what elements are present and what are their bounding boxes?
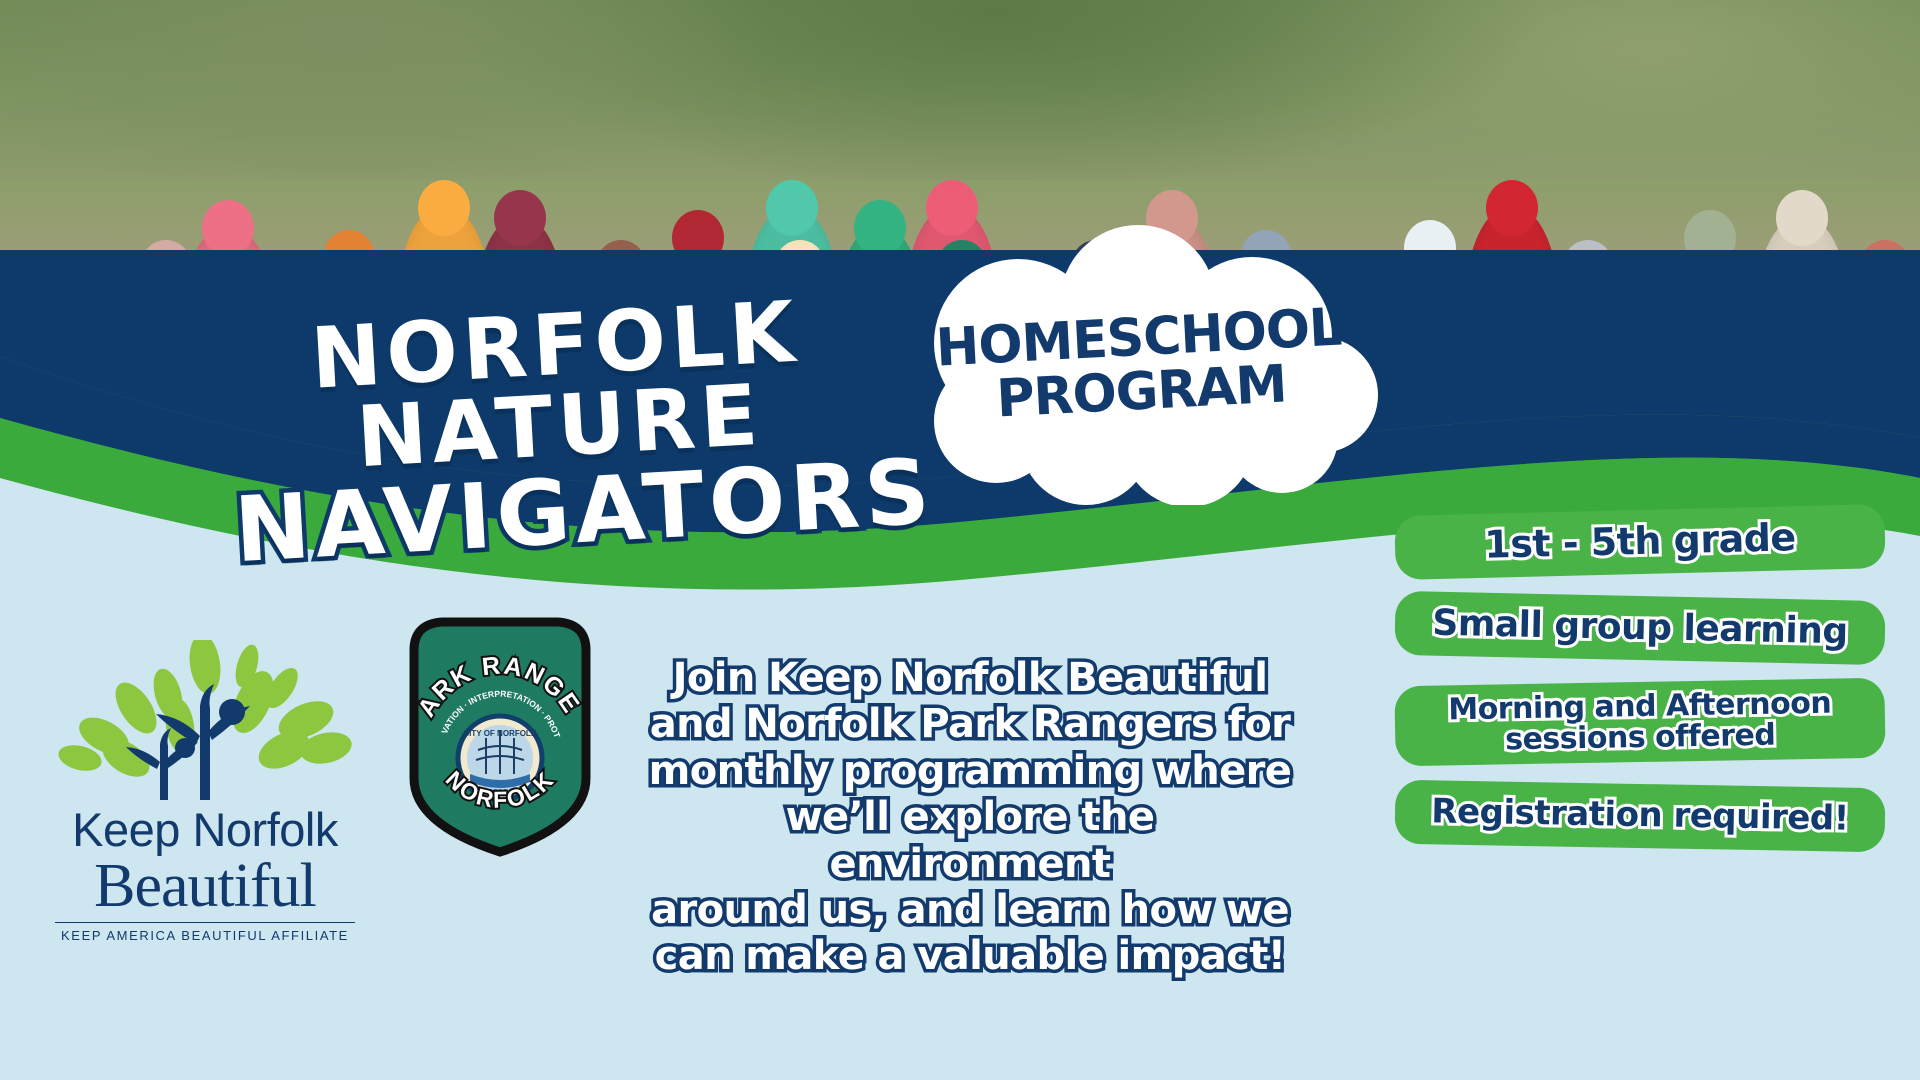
tree-with-people-icon xyxy=(40,640,370,800)
highlight-pill-registration: Registration required! xyxy=(1394,780,1885,853)
knb-wordmark-line-2: Beautiful xyxy=(40,857,370,916)
homeschool-program-cloud-badge: HOMESCHOOL PROGRAM xyxy=(900,225,1380,505)
flyer-canvas: NORFOLK NATURE NAVIGATORS HOMESCHOOL PRO… xyxy=(0,0,1920,1080)
paragraph-line: we’ll explore the environment xyxy=(640,794,1300,887)
highlight-pill-small-group: Small group learning xyxy=(1394,591,1885,665)
park-ranger-patch-logo: PARK RANGER CONSERVATION · INTERPRETATIO… xyxy=(400,610,600,860)
cloud-line-2: PROGRAM xyxy=(995,358,1287,425)
paragraph-line: monthly programming where xyxy=(640,748,1300,794)
highlight-pill-label: 1st - 5th grade xyxy=(1484,518,1796,565)
highlight-pill-sessions: Morning and Afternoon sessions offered xyxy=(1394,678,1885,767)
paragraph-line: and Norfolk Park Rangers for xyxy=(640,701,1300,747)
knb-wordmark-line-1: Keep Norfolk xyxy=(40,802,370,857)
highlight-pill-grade: 1st - 5th grade xyxy=(1394,504,1885,580)
info-section: Keep Norfolk Beautiful KEEP AMERICA BEAU… xyxy=(0,600,1920,1080)
paragraph-line: Join Keep Norfolk Beautiful xyxy=(640,655,1300,701)
keep-norfolk-beautiful-logo: Keep Norfolk Beautiful KEEP AMERICA BEAU… xyxy=(40,640,370,943)
paragraph-line: can make a valuable impact! xyxy=(640,933,1300,979)
paragraph-line: around us, and learn how we xyxy=(640,887,1300,933)
knb-tagline: KEEP AMERICA BEAUTIFUL AFFILIATE xyxy=(55,922,355,943)
program-highlights-list: 1st - 5th grade Small group learning Mor… xyxy=(1395,510,1885,870)
description-paragraph: Join Keep Norfolk Beautiful and Norfolk … xyxy=(640,655,1300,980)
page-title: NORFOLK NATURE NAVIGATORS xyxy=(144,282,977,579)
highlight-pill-label-2: sessions offered xyxy=(1505,718,1776,758)
park-ranger-shield-patch-icon: PARK RANGER CONSERVATION · INTERPRETATIO… xyxy=(400,610,600,860)
highlight-pill-label: Registration required! xyxy=(1431,795,1849,838)
highlight-pill-label: Small group learning xyxy=(1432,605,1848,651)
patch-seal-text: CITY OF NORFOLK xyxy=(463,729,536,738)
